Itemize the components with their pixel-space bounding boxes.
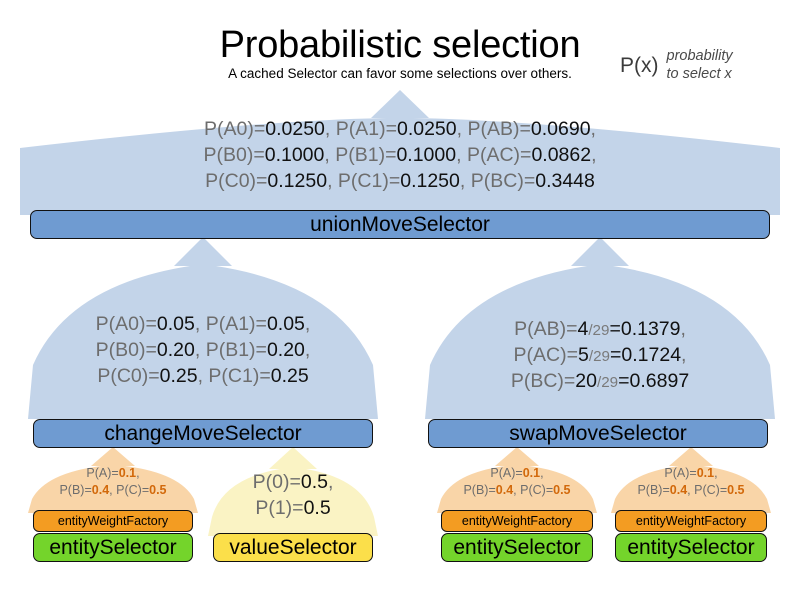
entity-weight-line-2: P(B)=0.4, P(C)=0.5 <box>611 482 771 499</box>
swap-probability-arrow: P(AB)=4/29=0.1379, P(AC)=5/29=0.1724, P(… <box>425 237 775 419</box>
legend-description-line-1: probability <box>667 48 733 66</box>
legend-key: P(x) <box>620 55 659 76</box>
swap-prob-line-2: P(AC)=5/29=0.1724, <box>425 343 775 369</box>
entity-weight-text-2: P(A)=0.1, P(B)=0.4, P(C)=0.5 <box>437 465 597 498</box>
entity-weight-line-2: P(B)=0.4, P(C)=0.5 <box>28 482 198 499</box>
node-value-selector[interactable]: valueSelector <box>213 533 373 562</box>
entity-weight-line-2: P(B)=0.4, P(C)=0.5 <box>437 482 597 499</box>
union-probability-text: P(A0)=0.0250, P(A1)=0.0250, P(AB)=0.0690… <box>20 117 780 195</box>
change-prob-line-3: P(C0)=0.25, P(C1)=0.25 <box>28 364 378 390</box>
change-prob-line-1: P(A0)=0.05, P(A1)=0.05, <box>28 312 378 338</box>
node-entity-weight-factory-label: entityWeightFactory <box>58 514 168 528</box>
union-prob-line-2: P(B0)=0.1000, P(B1)=0.1000, P(AC)=0.0862… <box>20 143 780 169</box>
node-entity-selector-3[interactable]: entitySelector <box>615 533 767 562</box>
node-entity-selector-label: entitySelector <box>627 536 754 560</box>
entity-weight-text-3: P(A)=0.1, P(B)=0.4, P(C)=0.5 <box>611 465 771 498</box>
entity-weight-line-1: P(A)=0.1, <box>28 465 198 482</box>
union-probability-arrow: P(A0)=0.0250, P(A1)=0.0250, P(AB)=0.0690… <box>20 90 780 215</box>
node-swap-move-selector[interactable]: swapMoveSelector <box>428 419 768 448</box>
swap-probability-text: P(AB)=4/29=0.1379, P(AC)=5/29=0.1724, P(… <box>425 317 775 395</box>
entity-weight-arrow-1: P(A)=0.1, P(B)=0.4, P(C)=0.5 <box>28 447 198 513</box>
node-union-move-selector-label: unionMoveSelector <box>310 213 490 237</box>
union-prob-line-3: P(C0)=0.1250, P(C1)=0.1250, P(BC)=0.3448 <box>20 169 780 195</box>
node-union-move-selector[interactable]: unionMoveSelector <box>30 210 770 239</box>
node-entity-weight-factory-3[interactable]: entityWeightFactory <box>615 510 767 532</box>
legend: P(x) probability to select x <box>620 48 733 83</box>
node-value-selector-label: valueSelector <box>229 536 356 560</box>
swap-prob-line-3: P(BC)=20/29=0.6897 <box>425 369 775 395</box>
entity-weight-line-1: P(A)=0.1, <box>437 465 597 482</box>
value-probability-arrow: P(0)=0.5, P(1)=0.5 <box>208 447 378 536</box>
node-entity-selector-label: entitySelector <box>49 536 176 560</box>
node-change-move-selector[interactable]: changeMoveSelector <box>33 419 373 448</box>
entity-weight-arrow-3: P(A)=0.1, P(B)=0.4, P(C)=0.5 <box>611 447 771 513</box>
change-probability-arrow: P(A0)=0.05, P(A1)=0.05, P(B0)=0.20, P(B1… <box>28 237 378 419</box>
union-prob-line-1: P(A0)=0.0250, P(A1)=0.0250, P(AB)=0.0690… <box>20 117 780 143</box>
node-entity-selector-label: entitySelector <box>453 536 580 560</box>
swap-prob-line-1: P(AB)=4/29=0.1379, <box>425 317 775 343</box>
value-prob-line-1: P(0)=0.5, <box>208 470 378 496</box>
node-swap-move-selector-label: swapMoveSelector <box>509 422 686 446</box>
change-prob-line-2: P(B0)=0.20, P(B1)=0.20, <box>28 338 378 364</box>
node-entity-weight-factory-label: entityWeightFactory <box>636 514 746 528</box>
change-probability-text: P(A0)=0.05, P(A1)=0.05, P(B0)=0.20, P(B1… <box>28 312 378 390</box>
entity-weight-line-1: P(A)=0.1, <box>611 465 771 482</box>
node-entity-selector-1[interactable]: entitySelector <box>33 533 193 562</box>
legend-description: probability to select x <box>667 48 733 83</box>
entity-weight-text-1: P(A)=0.1, P(B)=0.4, P(C)=0.5 <box>28 465 198 498</box>
node-change-move-selector-label: changeMoveSelector <box>104 422 301 446</box>
node-entity-weight-factory-label: entityWeightFactory <box>462 514 572 528</box>
node-entity-weight-factory-1[interactable]: entityWeightFactory <box>33 510 193 532</box>
node-entity-selector-2[interactable]: entitySelector <box>441 533 593 562</box>
legend-description-line-2: to select x <box>667 66 733 84</box>
node-entity-weight-factory-2[interactable]: entityWeightFactory <box>441 510 593 532</box>
value-probability-text: P(0)=0.5, P(1)=0.5 <box>208 470 378 522</box>
entity-weight-arrow-2: P(A)=0.1, P(B)=0.4, P(C)=0.5 <box>437 447 597 513</box>
value-prob-line-2: P(1)=0.5 <box>208 496 378 522</box>
diagram-canvas: Probabilistic selection A cached Selecto… <box>0 0 800 600</box>
